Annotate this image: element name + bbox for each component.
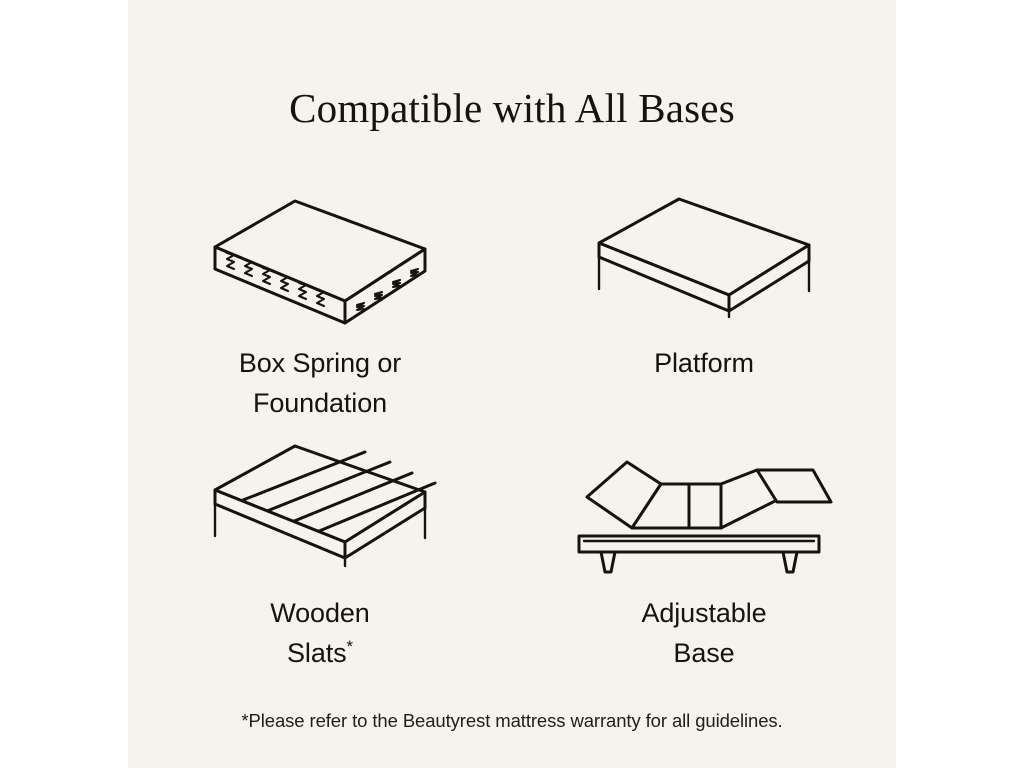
- wooden-slats-icon: [170, 440, 470, 580]
- base-types-grid: Box Spring or Foundation: [128, 180, 896, 700]
- base-label-line2: Base: [673, 638, 734, 668]
- base-card-platform: Platform: [512, 180, 896, 440]
- page-root: Compatible with All Bases: [0, 0, 1024, 768]
- base-card-adjustable-base: Adjustable Base: [512, 440, 896, 700]
- content-panel: Compatible with All Bases: [128, 0, 896, 768]
- base-card-wooden-slats: Wooden Slats*: [128, 440, 512, 700]
- footnote-marker: *: [347, 637, 353, 656]
- base-card-label: Platform: [539, 344, 869, 384]
- base-card-label: Box Spring or Foundation: [155, 344, 485, 424]
- base-label-line2: Slats: [287, 638, 347, 668]
- base-label-line2: Foundation: [253, 388, 387, 418]
- base-label-line1: Box Spring or: [239, 348, 401, 378]
- base-label-line1: Adjustable: [641, 598, 766, 628]
- footnote-text: *Please refer to the Beautyrest mattress…: [128, 710, 896, 732]
- page-title: Compatible with All Bases: [128, 85, 896, 132]
- platform-icon: [554, 180, 854, 330]
- base-card-label: Wooden Slats*: [155, 594, 485, 674]
- base-label-line1: Platform: [654, 348, 754, 378]
- base-card-box-spring: Box Spring or Foundation: [128, 180, 512, 440]
- base-card-label: Adjustable Base: [539, 594, 869, 674]
- box-spring-icon: [170, 180, 470, 330]
- adjustable-base-icon: [554, 440, 854, 580]
- base-label-line1: Wooden: [270, 598, 369, 628]
